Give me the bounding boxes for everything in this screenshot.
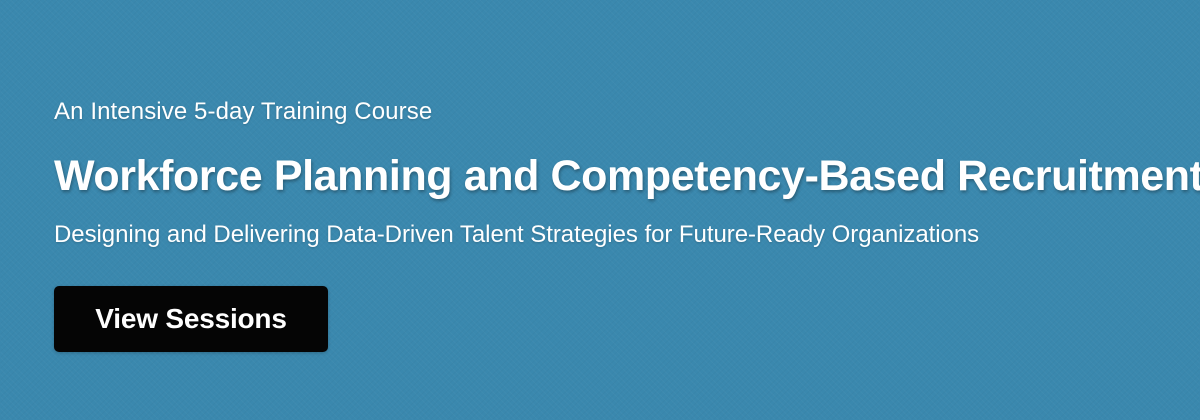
page-title: Workforce Planning and Competency-Based … (54, 152, 1200, 200)
course-hero-banner: An Intensive 5-day Training Course Workf… (0, 0, 1200, 420)
hero-content: An Intensive 5-day Training Course Workf… (54, 0, 1164, 420)
page-subtitle: Designing and Delivering Data-Driven Tal… (54, 221, 979, 250)
view-sessions-button[interactable]: View Sessions (54, 286, 328, 352)
course-eyebrow-label: An Intensive 5-day Training Course (54, 98, 432, 126)
